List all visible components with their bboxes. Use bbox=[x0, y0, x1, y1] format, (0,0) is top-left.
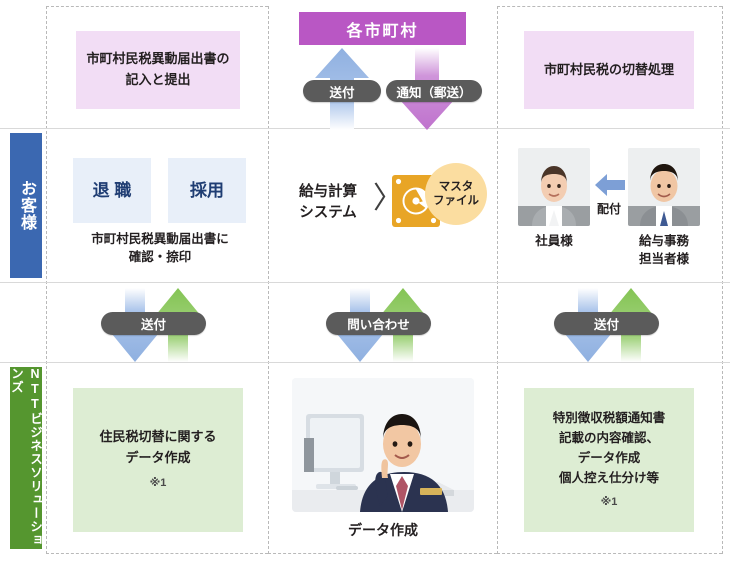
column-frame-bottom-left bbox=[46, 553, 268, 554]
employee-photo-caption: 社員様 bbox=[514, 232, 594, 250]
column-frame-bottom-center bbox=[268, 553, 497, 554]
chip-taishoku: 退 職 bbox=[73, 158, 151, 223]
chip-saiyou: 採用 bbox=[168, 158, 246, 223]
row1-right-box-line1: 市町村民税の切替処理 bbox=[544, 60, 674, 81]
master-file-badge: マスタ ファイル bbox=[425, 163, 487, 225]
pill-soufu-right-label: 送付 bbox=[594, 314, 619, 333]
lane-tab-customer-label: お客様 bbox=[14, 180, 38, 231]
lane-tab-ntt-label: NTTビジネスソリューションズ bbox=[7, 367, 45, 549]
column-divider-3 bbox=[497, 6, 498, 554]
data-creation-photo bbox=[292, 378, 474, 512]
payroll-system-label-line1: 給与計算 bbox=[285, 182, 371, 203]
row4-right-box-line3: データ作成 bbox=[553, 448, 666, 468]
employee-photo-caption-text: 社員様 bbox=[535, 234, 573, 248]
row4-right-box-line1: 特別徴収税額通知書 bbox=[553, 408, 666, 428]
row2-left-caption-line2: 確認・捺印 bbox=[56, 248, 264, 266]
pill-tsuchi-top-label: 通知（郵送） bbox=[396, 82, 471, 101]
data-creation-caption: データ作成 bbox=[292, 520, 474, 540]
payroll-staff-caption-line1: 給与事務 bbox=[624, 232, 704, 250]
row1-left-box: 市町村民税異動届出書の 記入と提出 bbox=[76, 31, 240, 109]
master-file-line1: マスタ bbox=[433, 180, 479, 194]
diagram-canvas: お客様 NTTビジネスソリューションズ 市町村民税異動届出書の 記入と提出 各市… bbox=[0, 0, 730, 566]
lane-tab-ntt: NTTビジネスソリューションズ bbox=[10, 367, 42, 549]
row4-left-box-line1: 住民税切替に関する bbox=[99, 427, 216, 448]
row4-right-box-line4: 個人控え仕分け等 bbox=[553, 468, 666, 488]
row4-left-box-note: ※1 bbox=[99, 475, 216, 493]
column-frame-top-right bbox=[497, 6, 722, 7]
column-frame-bottom-right bbox=[497, 553, 722, 554]
haifu-label: 配付 bbox=[580, 201, 638, 218]
payroll-system-label: 給与計算 システム bbox=[285, 182, 371, 224]
lane-separator-2 bbox=[0, 282, 730, 283]
row4-left-box: 住民税切替に関する データ作成 ※1 bbox=[73, 388, 243, 532]
row4-right-box-line2: 記載の内容確認、 bbox=[553, 428, 666, 448]
row4-left-box-line2: データ作成 bbox=[99, 448, 216, 469]
pill-inquiry-center-label: 問い合わせ bbox=[347, 314, 410, 333]
row1-left-box-line2: 記入と提出 bbox=[86, 70, 229, 91]
payroll-system-label-line2: システム bbox=[285, 203, 371, 224]
row1-center-header: 各市町村 bbox=[299, 12, 466, 45]
pill-soufu-top: 送付 bbox=[303, 80, 381, 102]
row1-right-box: 市町村民税の切替処理 bbox=[524, 31, 694, 109]
arrow-left-haifu bbox=[595, 174, 625, 196]
pill-soufu-left: 送付 bbox=[101, 312, 206, 335]
chip-taishoku-label: 退 職 bbox=[93, 177, 132, 204]
data-creation-caption-text: データ作成 bbox=[348, 522, 418, 538]
row1-left-box-line1: 市町村民税異動届出書の bbox=[86, 49, 229, 70]
pill-inquiry-center: 問い合わせ bbox=[326, 312, 431, 335]
column-divider-2 bbox=[268, 6, 269, 554]
lane-tab-customer: お客様 bbox=[10, 133, 42, 278]
pill-soufu-right: 送付 bbox=[554, 312, 659, 335]
pill-soufu-left-label: 送付 bbox=[141, 314, 166, 333]
column-divider-4 bbox=[722, 6, 723, 554]
row4-right-box-note: ※1 bbox=[553, 494, 666, 512]
payroll-staff-caption-line2: 担当者様 bbox=[624, 250, 704, 268]
column-divider-1 bbox=[46, 6, 47, 554]
pill-soufu-top-label: 送付 bbox=[329, 82, 354, 101]
payroll-staff-photo-caption: 給与事務 担当者様 bbox=[624, 232, 704, 268]
row2-left-caption: 市町村民税異動届出書に 確認・捺印 bbox=[56, 230, 264, 266]
chip-saiyou-label: 採用 bbox=[190, 177, 224, 204]
row4-right-box: 特別徴収税額通知書 記載の内容確認、 データ作成 個人控え仕分け等 ※1 bbox=[524, 388, 694, 532]
payroll-staff-photo bbox=[628, 148, 700, 226]
lane-separator-3 bbox=[0, 362, 730, 363]
column-frame-top-left bbox=[46, 6, 268, 7]
pill-tsuchi-top: 通知（郵送） bbox=[386, 80, 482, 102]
master-file-line2: ファイル bbox=[433, 194, 479, 208]
haifu-label-text: 配付 bbox=[597, 202, 621, 216]
row1-center-header-label: 各市町村 bbox=[346, 17, 418, 41]
row2-left-caption-line1: 市町村民税異動届出書に bbox=[56, 230, 264, 248]
